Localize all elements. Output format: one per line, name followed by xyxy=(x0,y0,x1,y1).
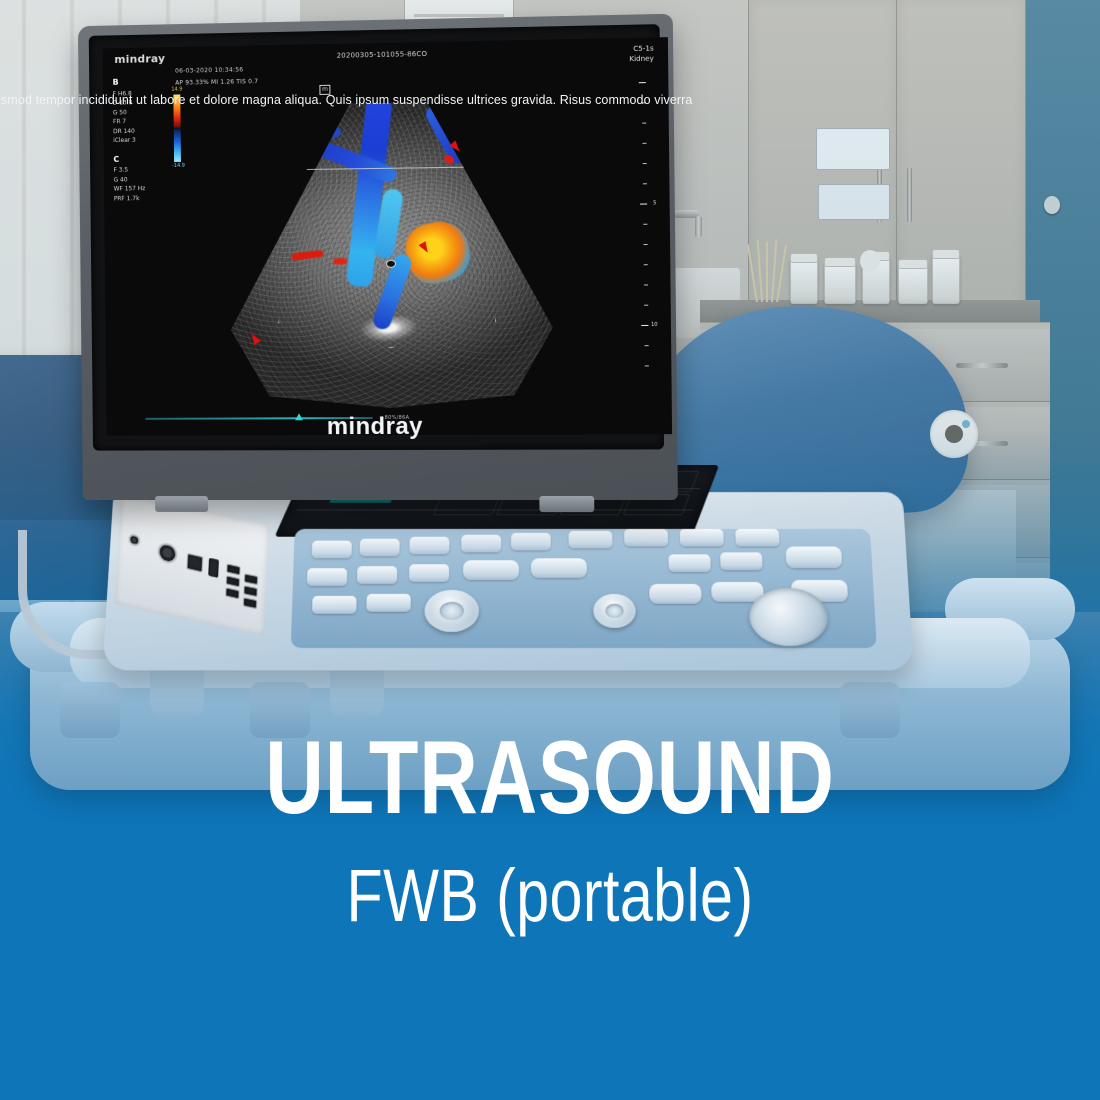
usb-port-1[interactable] xyxy=(226,564,240,576)
key-9[interactable] xyxy=(735,529,779,547)
c-param-3: PRF 1.7k xyxy=(114,194,146,204)
key-2[interactable] xyxy=(360,539,400,557)
color-bar-min: -14.9 xyxy=(172,163,185,169)
usb-port-4[interactable] xyxy=(244,573,258,585)
ethernet-port[interactable] xyxy=(187,553,204,572)
page-subtitle: FWB (portable) xyxy=(110,856,990,936)
ultrasound-machine: mindray 20200305-101055-86CO C5-1s Kidne… xyxy=(0,330,1100,750)
key-3[interactable] xyxy=(409,537,449,555)
b-param-3: FR 7 xyxy=(113,117,145,127)
key-14[interactable] xyxy=(531,558,587,578)
color-roi-box[interactable] xyxy=(277,166,497,348)
depth-label-5: 5 xyxy=(653,200,656,206)
hdmi-port[interactable] xyxy=(208,558,219,578)
page-title: ULTRASOUND xyxy=(121,726,979,830)
key-18[interactable] xyxy=(366,594,410,612)
lid-hinge-left xyxy=(155,496,208,512)
depth-scale: 5 10 xyxy=(639,78,659,382)
key-15[interactable] xyxy=(668,554,710,572)
key-17[interactable] xyxy=(312,596,357,614)
control-panel xyxy=(102,492,913,670)
usb-port-5[interactable] xyxy=(243,585,257,597)
key-6[interactable] xyxy=(569,531,613,549)
usb-port-6[interactable] xyxy=(243,597,257,609)
gain-dial[interactable] xyxy=(424,590,479,632)
key-4[interactable] xyxy=(461,535,501,553)
cart-leg-1 xyxy=(60,682,120,738)
probe-model: C5-1s xyxy=(629,43,653,54)
io-port-panel xyxy=(115,494,269,636)
key-10[interactable] xyxy=(307,568,347,586)
display-bezel: mindray 20200305-101055-86CO C5-1s Kidne… xyxy=(89,24,664,451)
depth-dial[interactable] xyxy=(593,594,636,628)
probe-info: C5-1s Kidney xyxy=(629,43,654,64)
b-param-5: iClear 3 xyxy=(113,136,145,146)
bezel-brand-label: mindray xyxy=(327,413,423,441)
key-21[interactable] xyxy=(786,547,843,569)
anechoic-cyst xyxy=(316,120,329,130)
din-port[interactable] xyxy=(157,541,178,565)
key-13[interactable] xyxy=(463,560,519,580)
key-5[interactable] xyxy=(511,533,551,551)
key-8[interactable] xyxy=(680,529,724,547)
key-12[interactable] xyxy=(409,564,449,582)
display-lid: mindray 20200305-101055-86CO C5-1s Kidne… xyxy=(78,14,678,500)
key-16[interactable] xyxy=(720,552,763,570)
depth-label-0 xyxy=(653,79,655,85)
key-7[interactable] xyxy=(624,529,668,547)
lid-hinge-right xyxy=(539,496,594,512)
bezel-brand-bar: mindray xyxy=(93,403,665,451)
c-mode-header: C xyxy=(113,154,145,164)
b-param-2: G 50 xyxy=(113,107,145,117)
c-param-0: F 3.5 xyxy=(113,165,145,175)
ultrasound-brand-logo: mindray xyxy=(114,52,165,66)
b-param-4: DR 140 xyxy=(113,126,145,136)
exam-preset: Kidney xyxy=(629,54,653,65)
usb-port-2[interactable] xyxy=(226,575,240,587)
key-19[interactable] xyxy=(649,584,702,604)
c-param-1: G 40 xyxy=(114,175,146,185)
overlay-lorem-text: usmod tempor incididunt ut labore et dol… xyxy=(0,92,1100,108)
b-mode-header: B xyxy=(113,77,145,87)
key-1[interactable] xyxy=(312,541,352,559)
usb-port-3[interactable] xyxy=(225,587,239,599)
poster-canvas: mindray 20200305-101055-86CO C5-1s Kidne… xyxy=(0,0,1100,1100)
power-port[interactable] xyxy=(128,533,140,547)
key-11[interactable] xyxy=(357,566,397,584)
acoustic-power-line: AP 93.33% MI 1.26 TIS 0.7 xyxy=(175,78,258,86)
c-param-2: WF 157 Hz xyxy=(114,184,146,194)
keypad-area xyxy=(291,529,877,648)
depth-label-10: 10 xyxy=(651,322,658,328)
exam-datetime: 06-03-2020 10:34:56 xyxy=(175,66,243,74)
